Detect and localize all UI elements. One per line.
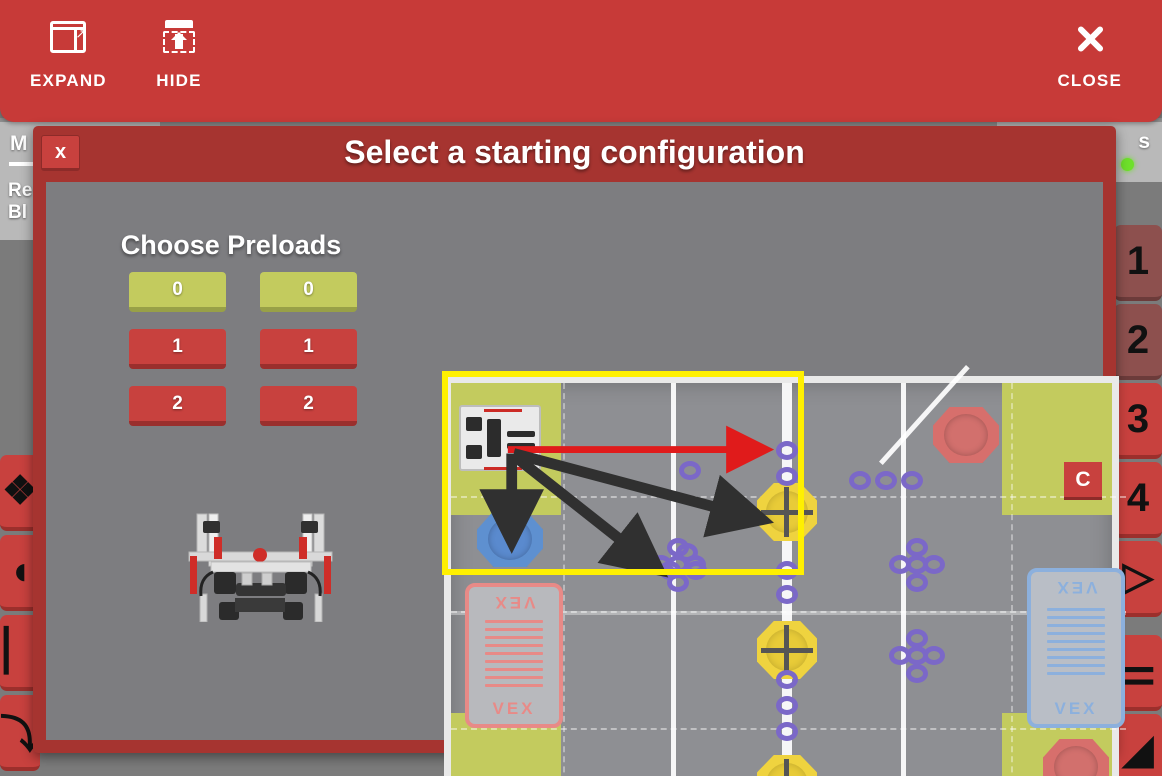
field-robot-blue[interactable]: VEX VEX — [1027, 568, 1125, 728]
ring[interactable] — [776, 670, 798, 689]
rail-button-3[interactable]: 3 — [1114, 383, 1162, 459]
rail-button-1[interactable]: 1 — [1114, 225, 1162, 301]
hide-icon — [155, 18, 203, 58]
tile-seam-v2 — [1011, 383, 1013, 776]
ring[interactable] — [776, 722, 798, 741]
ring[interactable] — [776, 585, 798, 604]
preload-left-0[interactable]: 0 — [129, 272, 226, 312]
field-surface[interactable]: VEX VEX VEX VEX — [444, 376, 1119, 776]
blue-robot-stripes — [1047, 608, 1105, 687]
ring[interactable] — [776, 561, 798, 580]
preload-right-0[interactable]: 0 — [260, 272, 357, 312]
preload-right-1[interactable]: 1 — [260, 329, 357, 369]
expand-button-label: EXPAND — [30, 71, 107, 91]
top-toolbar: ↗ EXPAND HIDE CLOSE — [0, 0, 1162, 122]
ring[interactable] — [676, 543, 698, 562]
ring[interactable] — [906, 664, 928, 683]
expand-button[interactable]: ↗ EXPAND — [30, 18, 107, 91]
red-robot-stripes — [485, 620, 543, 691]
choose-preloads-heading: Choose Preloads — [46, 230, 416, 261]
ring[interactable] — [679, 461, 701, 480]
dialog-title: Select a starting configuration — [33, 134, 1116, 171]
red-robot-vex-top: VEX — [469, 592, 559, 612]
ring[interactable] — [685, 561, 707, 580]
mobile-goal-top[interactable] — [757, 483, 817, 541]
background-right-tab-label: s — [1138, 130, 1150, 154]
starting-configuration-dialog: x Select a starting configuration Choose… — [33, 126, 1116, 753]
ring[interactable] — [776, 696, 798, 715]
ring[interactable] — [906, 573, 928, 592]
ring[interactable] — [923, 555, 945, 574]
blue-robot-vex-top: VEX — [1031, 577, 1121, 597]
expand-icon: ↗ — [44, 18, 92, 58]
close-button-label: CLOSE — [1057, 71, 1122, 91]
tile-seam-v1 — [563, 383, 565, 776]
robot-preview-image — [173, 512, 348, 622]
preview-robot-on-field[interactable] — [459, 405, 541, 471]
field-robot-red[interactable]: VEX VEX — [465, 583, 563, 728]
preload-right-2[interactable]: 2 — [260, 386, 357, 426]
preload-left-1[interactable]: 1 — [129, 329, 226, 369]
alliance-goal-blue-top[interactable] — [477, 511, 543, 567]
rail-button-2[interactable]: 2 — [1114, 304, 1162, 380]
close-x-icon — [1066, 18, 1114, 58]
ring[interactable] — [875, 471, 897, 490]
field-view[interactable]: VEX VEX VEX VEX — [434, 316, 1119, 776]
preload-left-2[interactable]: 2 — [129, 386, 226, 426]
red-robot-vex-bottom: VEX — [469, 699, 559, 719]
background-left-tab-label: M — [10, 132, 28, 156]
ring[interactable] — [923, 646, 945, 665]
position-marker-c[interactable]: C — [1064, 462, 1102, 500]
blue-robot-vex-bottom: VEX — [1031, 699, 1121, 719]
ring[interactable] — [901, 471, 923, 490]
ring[interactable] — [849, 471, 871, 490]
preload-column-left: 0 1 2 — [129, 272, 226, 426]
ring[interactable] — [659, 561, 681, 580]
close-button[interactable]: CLOSE — [1057, 18, 1122, 91]
connection-status-dot — [1121, 158, 1134, 171]
hide-button[interactable]: HIDE — [155, 18, 203, 91]
dialog-body: Choose Preloads 0 1 2 0 1 2 — [46, 182, 1103, 740]
mobile-goal-bottom[interactable] — [757, 755, 817, 776]
ring[interactable] — [776, 467, 798, 486]
ring[interactable] — [776, 441, 798, 460]
rail-button-4[interactable]: 4 — [1114, 462, 1162, 538]
hide-button-label: HIDE — [156, 71, 201, 91]
preload-selectors: 0 1 2 0 1 2 — [129, 272, 357, 426]
preload-column-right: 0 1 2 — [260, 272, 357, 426]
background-left-subtext: ReBl — [8, 180, 32, 224]
alliance-goal-red-top[interactable] — [933, 407, 999, 463]
app-root: M ReBl s ❖ ◖ ▏ ⤵ 1 2 3 4 ▷ ⚌ ◢ — [0, 0, 1162, 776]
